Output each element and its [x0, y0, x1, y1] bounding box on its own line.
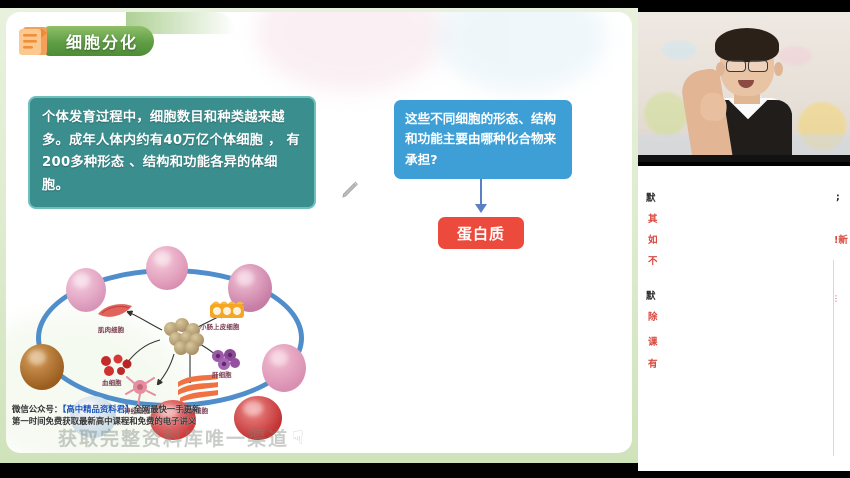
watermark-line-1: 微信公众号：【高中精品资料君】全网最快一手更新	[12, 403, 200, 415]
slide-title-banner: 细胞分化	[14, 24, 154, 58]
page-title: 细胞分化	[44, 26, 154, 56]
hair	[715, 28, 779, 62]
muscle-cell-image	[96, 300, 134, 326]
question-text: 这些不同细胞的形态、结构和功能主要由哪种化合物来承担?	[405, 109, 561, 170]
embryo-cell	[20, 344, 64, 390]
slide-frame: 细胞分化 个体发育过程中，细胞数目和种类越来越多。成年人体内约有40万亿个体细胞…	[0, 8, 638, 463]
note-char: ;	[836, 192, 840, 203]
diagram-label: 肌肉细胞	[98, 325, 124, 334]
watermark-large-text: 获取完整资料库唯一渠道	[58, 424, 289, 451]
note-char: 如	[648, 232, 658, 246]
note-char: 课	[648, 334, 658, 348]
pointing-hand-icon: ☟	[292, 427, 306, 449]
diagram-label: 血细胞	[102, 378, 122, 387]
note-char: 不	[648, 253, 658, 267]
note-char: 默	[646, 288, 656, 302]
embryo-cell	[262, 344, 306, 392]
note-char: 默	[646, 190, 656, 204]
wall-decor	[644, 92, 688, 136]
info-paragraph: 个体发育过程中，细胞数目和种类越来越多。成年人体内约有40万亿个体细胞 ， 有2…	[42, 107, 304, 198]
note-char: 其	[648, 211, 658, 225]
video-letterbox-top	[638, 6, 850, 12]
notebook-icon	[14, 24, 52, 58]
notes-divider	[833, 260, 834, 456]
embryo-cell	[146, 246, 188, 290]
wm-suffix: 全网最快一手更新	[133, 404, 200, 414]
notes-content: 默 其 如 不 默 除 课 有 ; !新	[638, 166, 850, 471]
pen-icon	[340, 180, 360, 204]
eyebrow	[750, 54, 765, 57]
hand	[699, 92, 727, 122]
answer-badge: 蛋白质	[438, 217, 524, 249]
diagram-label: 小肠上皮细胞	[200, 322, 240, 331]
teacher-video-feed[interactable]	[638, 6, 850, 162]
notes-panel[interactable]: 默 其 如 不 默 除 课 有 ; !新 ⋮	[638, 166, 850, 471]
note-char: !新	[834, 232, 848, 246]
slide-area: 细胞分化 个体发育过程中，细胞数目和种类越来越多。成年人体内约有40万亿个体细胞…	[0, 0, 638, 478]
bg-decor-blob	[256, 12, 446, 92]
stem-cell-cluster	[162, 318, 204, 354]
glasses-right	[748, 60, 768, 72]
note-char: 有	[648, 356, 658, 370]
arrow-head-icon	[475, 204, 487, 213]
note-char: 除	[648, 309, 658, 323]
eyebrow	[728, 54, 743, 57]
bg-decor-blob	[436, 12, 606, 92]
more-options-icon[interactable]: ⋮	[832, 296, 840, 302]
diagram-label: 肝细胞	[212, 370, 232, 379]
info-text-box: 个体发育过程中，细胞数目和种类越来越多。成年人体内约有40万亿个体细胞 ， 有2…	[28, 96, 316, 209]
glasses-left	[726, 60, 746, 72]
intestinal-epithelium-image	[208, 298, 246, 324]
ear	[774, 62, 783, 76]
wm-prefix: 微信公众号：	[12, 404, 62, 414]
wm-highlight: 【高中精品资料君】	[62, 404, 133, 414]
right-column: 默 其 如 不 默 除 课 有 ; !新 ⋮	[638, 0, 850, 478]
instructor-figure	[690, 28, 806, 162]
question-box: 这些不同细胞的形态、结构和功能主要由哪种化合物来承担?	[394, 100, 572, 179]
slide-canvas[interactable]: 细胞分化 个体发育过程中，细胞数目和种类越来越多。成年人体内约有40万亿个体细胞…	[6, 12, 632, 453]
video-letterbox-bottom	[638, 155, 850, 162]
watermark-large: 获取完整资料库唯一渠道 ☟	[58, 424, 306, 451]
app-root: 细胞分化 个体发育过程中，细胞数目和种类越来越多。成年人体内约有40万亿个体细胞…	[0, 0, 850, 478]
